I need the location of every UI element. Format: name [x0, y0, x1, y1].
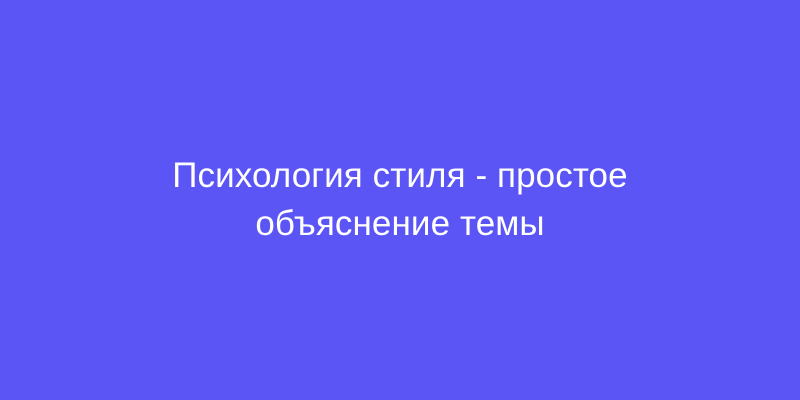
title-banner-content: Психология стиля - простое объяснение те… — [50, 152, 750, 248]
title-banner: Психология стиля - простое объяснение те… — [0, 0, 800, 400]
page-title: Психология стиля - простое объяснение те… — [70, 152, 730, 248]
